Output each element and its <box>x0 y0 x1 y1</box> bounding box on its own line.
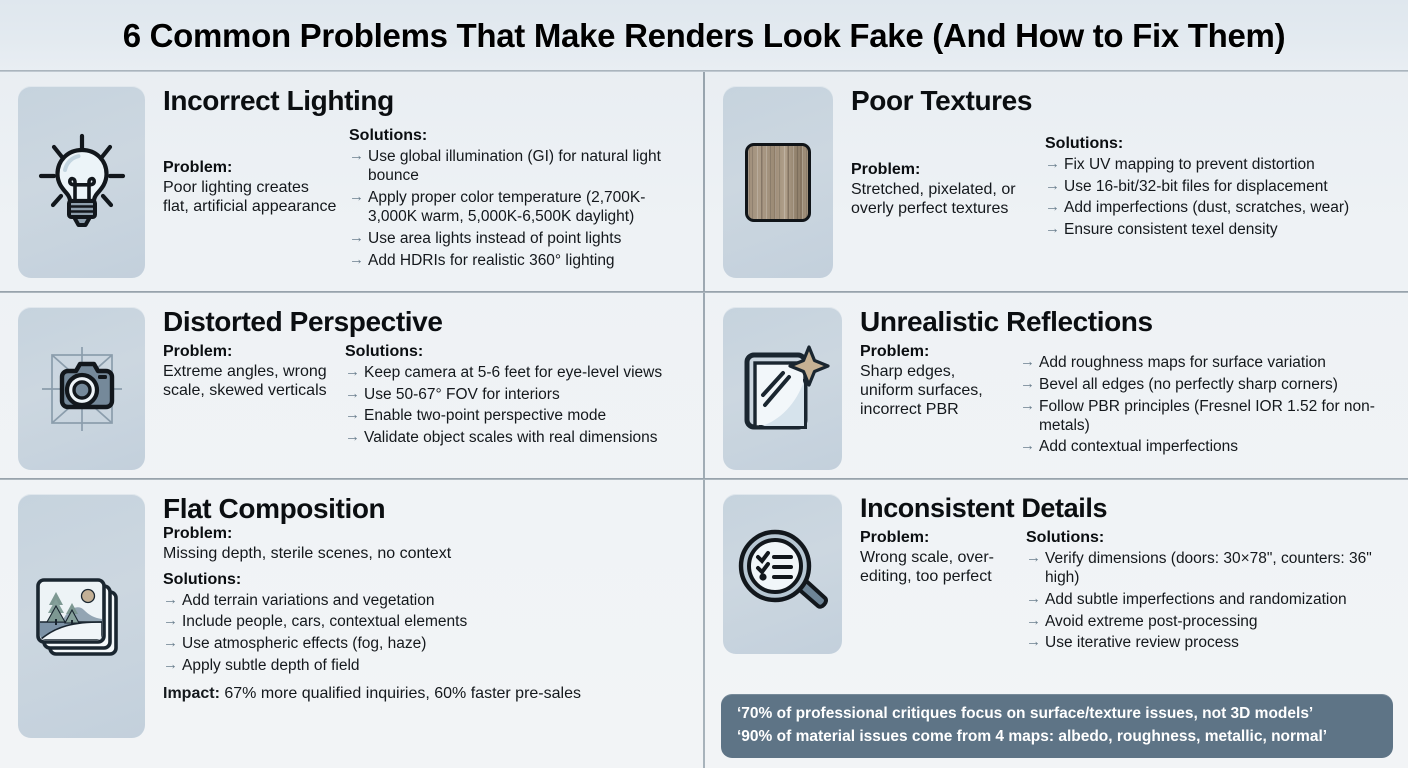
problem-column: Problem: Poor lighting creates flat, art… <box>163 117 339 272</box>
list-item-text: Use iterative review process <box>1045 634 1239 651</box>
card-incorrect-lighting: Incorrect Lighting Problem: Poor lightin… <box>0 72 703 291</box>
problem-label: Problem: <box>163 159 339 178</box>
arrow-icon: → <box>349 229 364 248</box>
list-item-text: Apply subtle depth of field <box>182 657 360 674</box>
problem-label: Problem: <box>860 529 1016 548</box>
list-item-text: Fix UV mapping to prevent distortion <box>1064 156 1315 173</box>
solutions-column: Solutions: →Fix UV mapping to prevent di… <box>1045 117 1396 242</box>
icon-tile <box>18 494 145 738</box>
list-item-text: Use 16-bit/32-bit files for displacement <box>1064 178 1328 195</box>
content-grid: Incorrect Lighting Problem: Poor lightin… <box>0 72 1408 768</box>
card-body: Unrealistic Reflections Problem: Sharp e… <box>842 307 1396 468</box>
list-item: →Use iterative review process <box>1026 633 1396 652</box>
list-item-text: Add roughness maps for surface variation <box>1039 354 1326 371</box>
list-item-text: Add subtle imperfections and randomizati… <box>1045 591 1347 608</box>
arrow-icon: → <box>1026 612 1041 631</box>
page-title: 6 Common Problems That Make Renders Look… <box>123 17 1286 55</box>
solutions-label: Solutions: <box>1045 135 1396 154</box>
problem-text: Sharp edges, uniform surfaces, incorrect… <box>860 363 1010 420</box>
icon-tile <box>723 494 842 654</box>
list-item-text: Use area lights instead of point lights <box>368 230 621 247</box>
list-item: →Use atmospheric effects (fog, haze) <box>163 634 691 653</box>
solutions-block: Solutions: →Add terrain variations and v… <box>163 571 691 675</box>
arrow-icon: → <box>349 251 364 270</box>
problem-column: Problem: Wrong scale, over-editing, too … <box>860 524 1016 655</box>
arrow-icon: → <box>345 385 360 404</box>
list-item: →Apply proper color temperature (2,700K-… <box>349 188 691 226</box>
card-body: Inconsistent Details Problem: Wrong scal… <box>842 494 1396 698</box>
problem-column: Problem: Extreme angles, wrong scale, sk… <box>163 338 335 450</box>
list-item: →Validate object scales with real dimens… <box>345 428 691 447</box>
solutions-list: →Fix UV mapping to prevent distortion →U… <box>1045 155 1396 239</box>
arrow-icon: → <box>1045 220 1060 239</box>
list-item-text: Add imperfections (dust, scratches, wear… <box>1064 199 1349 216</box>
list-item-text: Use global illumination (GI) for natural… <box>368 148 661 184</box>
solutions-list: →Verify dimensions (doors: 30×78", count… <box>1026 549 1396 653</box>
list-item: →Fix UV mapping to prevent distortion <box>1045 155 1396 174</box>
list-item: →Use area lights instead of point lights <box>349 229 691 248</box>
arrow-icon: → <box>1045 198 1060 217</box>
card-unrealistic-reflections: Unrealistic Reflections Problem: Sharp e… <box>705 293 1408 478</box>
list-item-text: Add terrain variations and vegetation <box>182 592 434 609</box>
list-item-text: Enable two-point perspective mode <box>364 407 606 424</box>
problem-column: Problem: Sharp edges, uniform surfaces, … <box>860 338 1010 459</box>
problem-label: Problem: <box>860 343 1010 362</box>
list-item: →Enable two-point perspective mode <box>345 406 691 425</box>
list-item-text: Bevel all edges (no perfectly sharp corn… <box>1039 376 1338 393</box>
arrow-icon: → <box>163 656 178 675</box>
list-item-text: Validate object scales with real dimensi… <box>364 429 658 446</box>
list-item-text: Add HDRIs for realistic 360° lighting <box>368 252 615 269</box>
problem-text: Stretched, pixelated, or overly perfect … <box>851 181 1035 219</box>
header-bar: 6 Common Problems That Make Renders Look… <box>0 0 1408 71</box>
list-item: →Apply subtle depth of field <box>163 656 691 675</box>
arrow-icon: → <box>1045 177 1060 196</box>
list-item-text: Ensure consistent texel density <box>1064 221 1278 238</box>
list-item-text: Verify dimensions (doors: 30×78", counte… <box>1045 550 1372 586</box>
list-item-text: Keep camera at 5-6 feet for eye-level vi… <box>364 364 662 381</box>
problem-text: Wrong scale, over-editing, too perfect <box>860 549 1016 587</box>
card-poor-textures: Poor Textures Problem: Stretched, pixela… <box>705 72 1408 291</box>
card-title: Distorted Perspective <box>163 307 691 336</box>
impact-label: Impact: <box>163 685 220 702</box>
arrow-icon: → <box>1026 633 1041 652</box>
solutions-list: →Keep camera at 5-6 feet for eye-level v… <box>345 363 691 447</box>
arrow-icon: → <box>1020 375 1035 394</box>
arrow-icon: → <box>1026 590 1041 609</box>
card-body: Incorrect Lighting Problem: Poor lightin… <box>145 86 691 281</box>
list-item-text: Add contextual imperfections <box>1039 438 1238 455</box>
card-title: Poor Textures <box>851 86 1396 115</box>
solutions-list: →Add terrain variations and vegetation →… <box>163 591 691 675</box>
solutions-column: →Add roughness maps for surface variatio… <box>1020 338 1396 459</box>
icon-tile <box>723 307 842 470</box>
list-item: →Keep camera at 5-6 feet for eye-level v… <box>345 363 691 382</box>
problem-label: Problem: <box>163 343 335 362</box>
icon-tile <box>18 86 145 278</box>
arrow-icon: → <box>349 147 364 166</box>
arrow-icon: → <box>1020 437 1035 456</box>
card-title: Unrealistic Reflections <box>860 307 1396 336</box>
list-item: →Use 16-bit/32-bit files for displacemen… <box>1045 177 1396 196</box>
arrow-icon: → <box>1020 397 1035 416</box>
lightbulb-icon <box>34 132 130 232</box>
list-item-text: Use 50-67° FOV for interiors <box>364 386 560 403</box>
card-body: Flat Composition Problem: Missing depth,… <box>145 494 691 758</box>
solutions-list: →Add roughness maps for surface variatio… <box>1020 353 1396 457</box>
arrow-icon: → <box>1045 155 1060 174</box>
callout-line: ‘70% of professional critiques focus on … <box>737 703 1379 725</box>
problem-text: Extreme angles, wrong scale, skewed vert… <box>163 363 335 401</box>
solutions-column: Solutions: →Verify dimensions (doors: 30… <box>1026 524 1396 655</box>
arrow-icon: → <box>1026 549 1041 568</box>
arrow-icon: → <box>345 428 360 447</box>
impact-text: 67% more qualified inquiries, 60% faster… <box>224 685 581 702</box>
impact-line: Impact: 67% more qualified inquiries, 60… <box>163 684 691 703</box>
problem-label: Problem: <box>851 161 1035 180</box>
list-item: →Follow PBR principles (Fresnel IOR 1.52… <box>1020 397 1396 435</box>
list-item: →Avoid extreme post-processing <box>1026 612 1396 631</box>
solutions-label: Solutions: <box>349 127 691 146</box>
mirror-sparkle-icon <box>735 339 831 439</box>
list-item-text: Apply proper color temperature (2,700K-3… <box>368 189 645 225</box>
problem-text: Poor lighting creates flat, artificial a… <box>163 179 339 217</box>
list-item: →Add imperfections (dust, scratches, wea… <box>1045 198 1396 217</box>
card-title: Incorrect Lighting <box>163 86 691 115</box>
magnifier-checklist-icon <box>733 524 833 624</box>
list-item: →Bevel all edges (no perfectly sharp cor… <box>1020 375 1396 394</box>
list-item: →Verify dimensions (doors: 30×78", count… <box>1026 549 1396 587</box>
list-item: →Add subtle imperfections and randomizat… <box>1026 590 1396 609</box>
solutions-column: Solutions: →Keep camera at 5-6 feet for … <box>345 338 691 450</box>
wood-texture-swatch-icon <box>745 143 811 222</box>
card-distorted-perspective: Distorted Perspective Problem: Extreme a… <box>0 293 703 478</box>
arrow-icon: → <box>1020 353 1035 372</box>
solutions-label: Solutions: <box>345 343 691 362</box>
list-item-text: Use atmospheric effects (fog, haze) <box>182 635 426 652</box>
arrow-icon: → <box>345 406 360 425</box>
card-title: Inconsistent Details <box>860 494 1396 522</box>
list-item: →Add contextual imperfections <box>1020 437 1396 456</box>
list-item: →Use global illumination (GI) for natura… <box>349 147 691 185</box>
list-item: →Ensure consistent texel density <box>1045 220 1396 239</box>
arrow-icon: → <box>349 188 364 207</box>
list-item: →Include people, cars, contextual elemen… <box>163 612 691 631</box>
icon-tile <box>18 307 145 470</box>
card-title: Flat Composition <box>163 494 691 523</box>
card-body: Distorted Perspective Problem: Extreme a… <box>145 307 691 468</box>
list-item: →Use 50-67° FOV for interiors <box>345 385 691 404</box>
arrow-icon: → <box>163 634 178 653</box>
card-inconsistent-details: Inconsistent Details Problem: Wrong scal… <box>705 480 1408 768</box>
card-body: Poor Textures Problem: Stretched, pixela… <box>833 86 1396 281</box>
callout-line: ‘90% of material issues come from 4 maps… <box>737 726 1379 748</box>
problem-block: Problem: Missing depth, sterile scenes, … <box>163 525 691 564</box>
icon-tile <box>723 86 833 278</box>
list-item: →Add roughness maps for surface variatio… <box>1020 353 1396 372</box>
infographic-page: 6 Common Problems That Make Renders Look… <box>0 0 1408 768</box>
camera-icon <box>30 337 134 441</box>
solutions-list: →Use global illumination (GI) for natura… <box>349 147 691 270</box>
solutions-label: Solutions: <box>1026 529 1396 548</box>
list-item-text: Include people, cars, contextual element… <box>182 613 467 630</box>
solutions-column: Solutions: →Use global illumination (GI)… <box>349 117 691 272</box>
arrow-icon: → <box>345 363 360 382</box>
statistics-callout: ‘70% of professional critiques focus on … <box>721 694 1393 758</box>
arrow-icon: → <box>163 591 178 610</box>
list-item-text: Follow PBR principles (Fresnel IOR 1.52 … <box>1039 398 1375 434</box>
list-item: →Add HDRIs for realistic 360° lighting <box>349 251 691 270</box>
card-flat-composition: Flat Composition Problem: Missing depth,… <box>0 480 703 768</box>
list-item-text: Avoid extreme post-processing <box>1045 613 1258 630</box>
list-item: →Add terrain variations and vegetation <box>163 591 691 610</box>
solutions-label: Solutions: <box>163 571 691 590</box>
problem-label: Problem: <box>163 525 691 544</box>
arrow-icon: → <box>163 612 178 631</box>
problem-text: Missing depth, sterile scenes, no contex… <box>163 545 691 564</box>
problem-column: Problem: Stretched, pixelated, or overly… <box>851 117 1035 242</box>
photo-stack-icon <box>32 566 132 666</box>
